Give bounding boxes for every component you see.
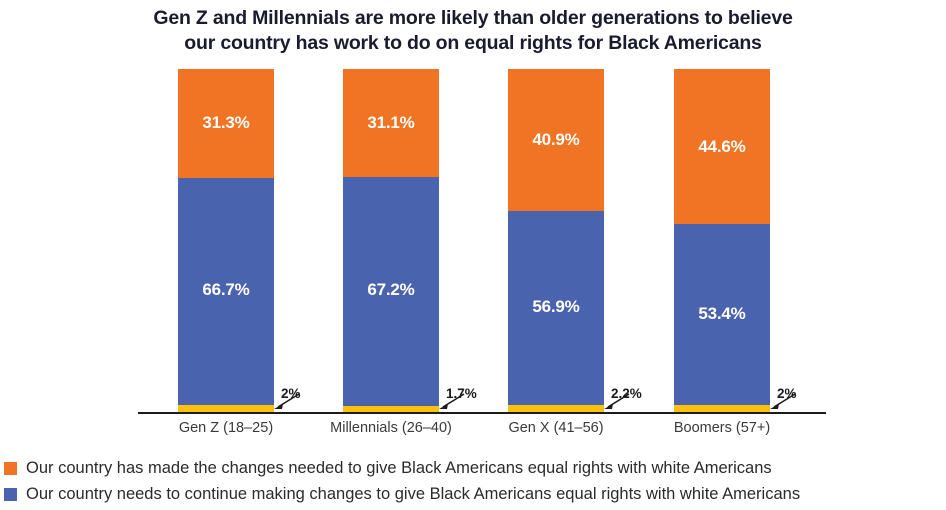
chart-legend: Our country has made the changes needed … (4, 455, 944, 507)
callout-label-gen-z: 2% (281, 386, 301, 401)
callout-label-millennials: 1.7% (446, 386, 477, 401)
x-axis-label-boomers: Boomers (57+) (622, 420, 822, 436)
chart-container: Gen Z and Millennials are more likely th… (0, 0, 946, 510)
bar-label-orange: 31.1% (343, 113, 439, 133)
bar-gen-x[interactable]: 40.9% 56.9% (508, 69, 604, 412)
legend-item-made-changes[interactable]: Our country has made the changes needed … (4, 455, 944, 481)
bar-segment-yellow[interactable] (508, 405, 604, 412)
bar-label-blue: 53.4% (674, 304, 770, 324)
bar-label-blue: 66.7% (178, 280, 274, 300)
bar-label-orange: 40.9% (508, 130, 604, 150)
bar-segment-yellow[interactable] (178, 405, 274, 412)
bar-label-blue: 56.9% (508, 297, 604, 317)
bar-label-blue: 67.2% (343, 280, 439, 300)
callout-label-gen-x: 2.2% (611, 386, 642, 401)
legend-label-made-changes: Our country has made the changes needed … (26, 458, 772, 478)
bar-boomers[interactable]: 44.6% 53.4% (674, 69, 770, 412)
bar-millennials[interactable]: 31.1% 67.2% (343, 69, 439, 412)
legend-swatch-orange-icon (4, 462, 17, 475)
callout-label-boomers: 2% (777, 386, 797, 401)
bar-label-orange: 31.3% (178, 113, 274, 133)
legend-swatch-blue-icon (4, 488, 17, 501)
legend-label-needs-changes: Our country needs to continue making cha… (26, 484, 800, 504)
legend-item-needs-changes[interactable]: Our country needs to continue making cha… (4, 481, 944, 507)
plot-area: 31.3% 66.7% 31.1% 67.2% 40.9% 56.9% 44.6… (0, 0, 946, 445)
bar-label-orange: 44.6% (674, 137, 770, 157)
bar-segment-yellow[interactable] (674, 405, 770, 412)
x-axis-line (138, 412, 826, 414)
bar-gen-z[interactable]: 31.3% 66.7% (178, 69, 274, 412)
